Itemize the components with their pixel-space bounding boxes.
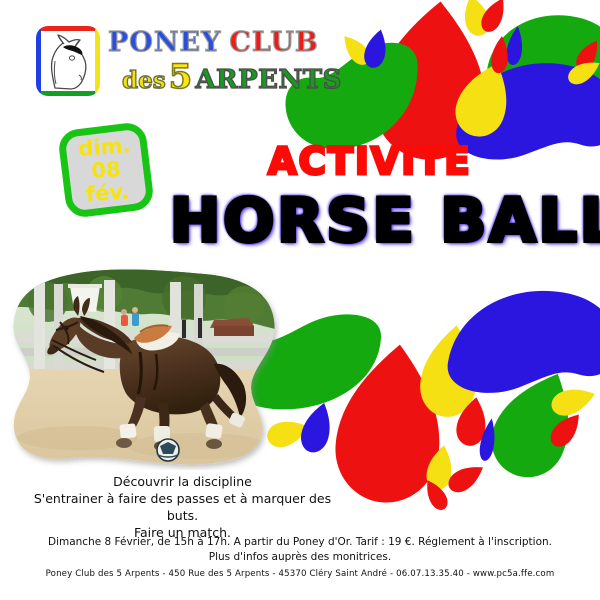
splash-top-yellow-tiny2 (565, 55, 600, 88)
splash-top-blue (452, 45, 600, 184)
club-name-line1: PONEYCLUB (108, 29, 342, 56)
splash-mid-red-bottom3 (420, 476, 451, 513)
footer-contact: Poney Club des 5 Arpents - 450 Rue des 5… (0, 569, 600, 579)
date-badge-month: fév. (85, 180, 130, 205)
event-photo (8, 268, 280, 470)
description-line-1: Découvrir la discipline (0, 474, 365, 491)
logo-color-frame (36, 26, 100, 96)
splash-mid-yellow-bottom (424, 443, 456, 492)
splash-mid-red-bottom2 (546, 408, 587, 451)
club-name-line2: des5ARPENTS (122, 60, 342, 94)
date-badge-weekday: dim. (78, 134, 132, 160)
logo-frame-left (36, 28, 41, 94)
page-title: HORSE BALL (170, 186, 600, 256)
date-badge-day: 08 (91, 158, 122, 182)
poster-canvas: PONEYCLUB des5ARPENTS dim. 08 fév. ACTIV… (0, 0, 600, 600)
splash-top-red-tiny2 (490, 35, 510, 74)
club-name-des: des (122, 67, 166, 94)
splash-mid-red-small (454, 395, 491, 448)
event-photo-blob (8, 268, 280, 470)
club-name-five: 5 (169, 57, 193, 97)
splash-mid-yellow-small (548, 382, 598, 419)
splash-mid-green-right (480, 359, 592, 489)
club-name-poney: PONEY (108, 27, 221, 58)
club-name-club: CLUB (229, 27, 318, 58)
event-details-block: Dimanche 8 Février, de 15h à 17h. A part… (0, 535, 600, 565)
club-logo-mark (36, 26, 100, 96)
logo-frame-top (38, 26, 98, 31)
splash-mid-blue (444, 275, 600, 415)
splash-top-blue-tiny2 (505, 25, 525, 66)
photo-content (8, 268, 280, 470)
description-block: Découvrir la discipline S'entrainer à fa… (0, 474, 365, 542)
club-logo: PONEYCLUB des5ARPENTS (36, 26, 342, 96)
splash-top-green-right (483, 0, 600, 114)
club-logo-text: PONEYCLUB des5ARPENTS (108, 29, 342, 94)
splash-mid-yellow (416, 322, 484, 421)
splash-top-yellow (448, 55, 520, 144)
splash-top-yellow-tiny (338, 31, 374, 69)
date-badge-text: dim. 08 fév. (59, 123, 153, 217)
description-line-2: S'entrainer à faire des passes et à marq… (0, 491, 365, 508)
splash-top-blue-tiny (361, 27, 390, 70)
logo-frame-bottom (38, 91, 98, 96)
splash-top-red-small (477, 0, 511, 35)
club-name-arpents: ARPENTS (195, 65, 342, 95)
splash-top-red-tiny3 (572, 36, 600, 73)
activity-kicker: ACTIVITE (268, 140, 472, 183)
splash-mid-blue-left (297, 399, 337, 455)
logo-frame-right (95, 28, 100, 94)
description-line-3: buts. (0, 508, 365, 525)
splash-mid-red-bottom (444, 459, 488, 497)
event-details-line-2: Plus d'infos auprès des monitrices. (0, 550, 600, 565)
splash-mid-blue-small (478, 417, 499, 462)
date-badge: dim. 08 fév. (57, 121, 155, 219)
event-details-line-1: Dimanche 8 Février, de 15h à 17h. A part… (0, 535, 600, 550)
splash-top-yellow-small (459, 0, 493, 39)
